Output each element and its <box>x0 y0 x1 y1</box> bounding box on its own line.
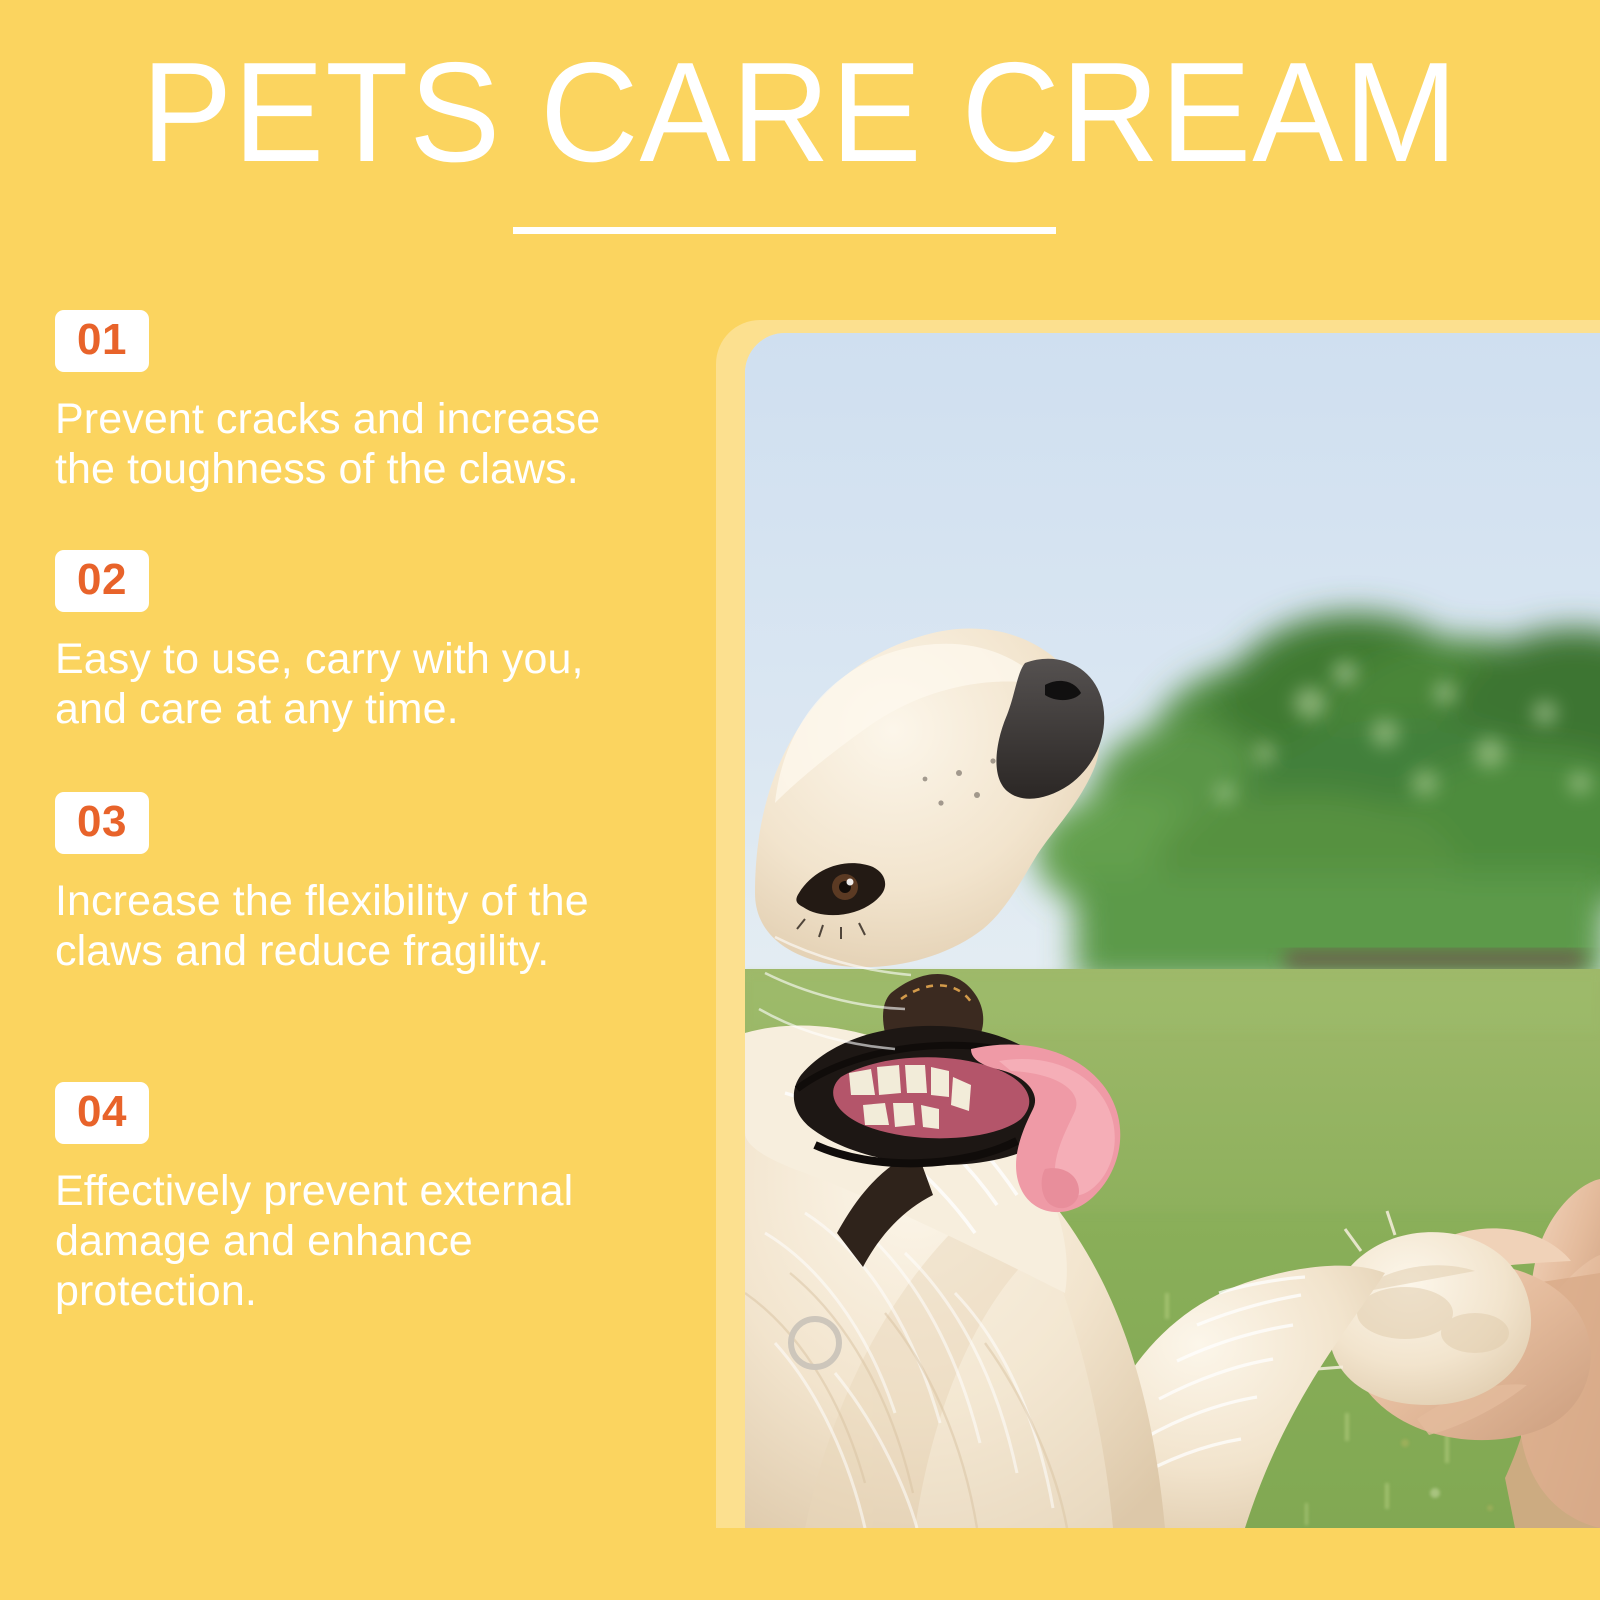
feature-item-02: 02 Easy to use, carry with you, and care… <box>55 550 695 734</box>
dog-paw-photo-illustration <box>745 333 1600 1528</box>
feature-description: Easy to use, carry with you, and care at… <box>55 634 685 734</box>
title-underline-divider <box>513 227 1056 234</box>
feature-item-03: 03 Increase the flexibility of the claws… <box>55 792 695 976</box>
feature-number-badge: 04 <box>55 1082 149 1144</box>
page-title: PETS CARE CREAM <box>32 38 1568 188</box>
feature-item-01: 01 Prevent cracks and increase the tough… <box>55 310 695 494</box>
feature-number-badge: 02 <box>55 550 149 612</box>
poster-root: PETS CARE CREAM 01 Prevent cracks and in… <box>0 0 1600 1600</box>
feature-number-badge: 03 <box>55 792 149 854</box>
feature-number-badge: 01 <box>55 310 149 372</box>
feature-description: Increase the flexibility of the claws an… <box>55 876 685 976</box>
background-fence <box>1285 951 1585 967</box>
feature-description: Effectively prevent external damage and … <box>55 1166 685 1316</box>
feature-item-04: 04 Effectively prevent external damage a… <box>55 1082 695 1316</box>
feature-description: Prevent cracks and increase the toughnes… <box>55 394 685 494</box>
hero-photo <box>745 333 1600 1528</box>
